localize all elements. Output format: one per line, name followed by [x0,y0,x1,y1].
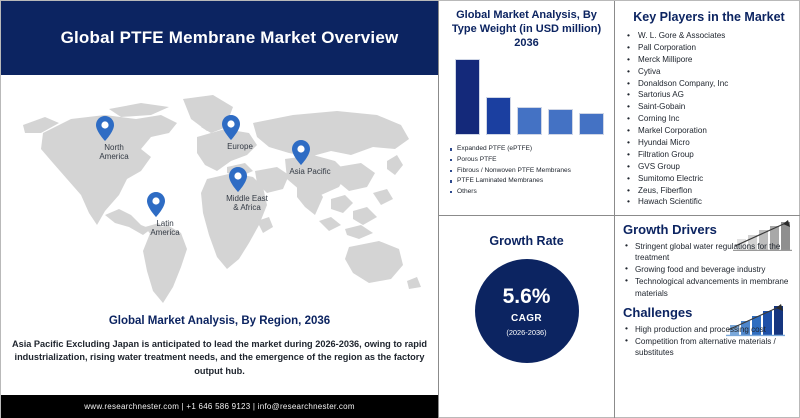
chart-legend-item: Fibrous / Nonwoven PTFE Membranes [449,166,608,177]
cagr-label: CAGR [511,313,542,324]
key-players-title: Key Players in the Market [625,10,793,24]
drivers-challenges-panel: Growth Drivers Stringent global water re… [615,216,800,418]
list-item: Hyundai Micro [625,137,793,149]
map-pin-asia-pacific[interactable] [292,140,310,165]
list-item: Saint-Gobain [625,101,793,113]
chart-bars [455,59,604,135]
chart-bar-2 [517,107,542,135]
list-item: Filtration Group [625,149,793,161]
list-item: Competition from alternative materials /… [623,336,794,358]
key-players-panel: Key Players in the Market W. L. Gore & A… [615,1,800,215]
chart-legend-item: Expanded PTFE (ePTFE) [449,144,608,155]
challenges-section: Challenges High production and processin… [623,305,794,358]
list-item: Sumitomo Electric [625,173,793,185]
chart-bar-3 [548,109,573,135]
list-item: High production and processing cost [623,324,794,335]
chart-legend-list: Expanded PTFE (ePTFE) Porous PTFE Fibrou… [449,144,608,197]
list-item: Cytiva [625,66,793,78]
list-item: W. L. Gore & Associates [625,30,793,42]
list-item: Growing food and beverage industry [623,264,794,275]
chart-legend: Expanded PTFE (ePTFE) Porous PTFE Fibrou… [449,144,608,197]
growth-drivers-list: Stringent global water regulations for t… [623,241,794,299]
key-players-list: W. L. Gore & Associates Pall Corporation… [625,30,793,208]
chart-bar-1 [486,97,511,135]
growth-rate-title: Growth Rate [439,234,614,248]
list-item: Corning Inc [625,113,793,125]
infographic-poster: Global PTFE Membrane Market Overview [0,0,800,418]
world-map-svg [1,75,438,313]
list-item: Donaldson Company, Inc [625,78,793,90]
map-pin-latin-america[interactable] [147,192,165,217]
challenges-list: High production and processing cost Comp… [623,324,794,358]
list-item: Stringent global water regulations for t… [623,241,794,263]
list-item: Merck Millipore [625,54,793,66]
world-map: North America Europe Asia Pacific Middle… [1,75,438,313]
list-item: Markel Corporation [625,125,793,137]
cagr-period: (2026-2036) [506,328,546,337]
chart-bar-4 [579,113,604,135]
left-column: Global PTFE Membrane Market Overview [1,1,438,417]
chart-legend-item: Others [449,187,608,198]
list-item: Sartorius AG [625,89,793,101]
region-analysis-caption: Global Market Analysis, By Region, 2036 [1,315,438,327]
list-item: Technological advancements in membrane m… [623,276,794,298]
map-label-europe: Europe [204,143,276,152]
chart-title: Global Market Analysis, By Type Weight (… [445,8,608,50]
chart-bar-0 [455,59,480,135]
footer-bar: www.researchnester.com | +1 646 586 9123… [1,395,438,418]
map-label-latin-america: Latin America [129,220,201,238]
map-pin-middle-east-africa[interactable] [229,167,247,192]
chart-legend-item: Porous PTFE [449,155,608,166]
list-item: GVS Group [625,161,793,173]
map-label-middle-east-africa: Middle East & Africa [211,195,283,213]
map-pin-europe[interactable] [222,115,240,140]
type-analysis-panel: Global Market Analysis, By Type Weight (… [439,1,614,215]
map-pin-north-america[interactable] [96,116,114,141]
chart-plot-area [455,59,604,135]
region-analysis-note: Asia Pacific Excluding Japan is anticipa… [11,338,428,378]
chart-legend-item: PTFE Laminated Membranes [449,176,608,187]
growth-rate-panel: Growth Rate 5.6% CAGR (2026-2036) [439,216,614,418]
list-item: Pall Corporation [625,42,793,54]
list-item: Hawach Scientific [625,196,793,208]
map-label-asia-pacific: Asia Pacific [274,168,346,177]
map-label-north-america: North America [78,144,150,162]
page-title: Global PTFE Membrane Market Overview [27,27,413,48]
cagr-circle: 5.6% CAGR (2026-2036) [475,259,579,363]
footer-contact-text: www.researchnester.com | +1 646 586 9123… [84,402,354,411]
cagr-percent: 5.6% [503,286,551,307]
list-item: Zeus, Fiberflon [625,185,793,197]
title-banner: Global PTFE Membrane Market Overview [1,1,438,75]
